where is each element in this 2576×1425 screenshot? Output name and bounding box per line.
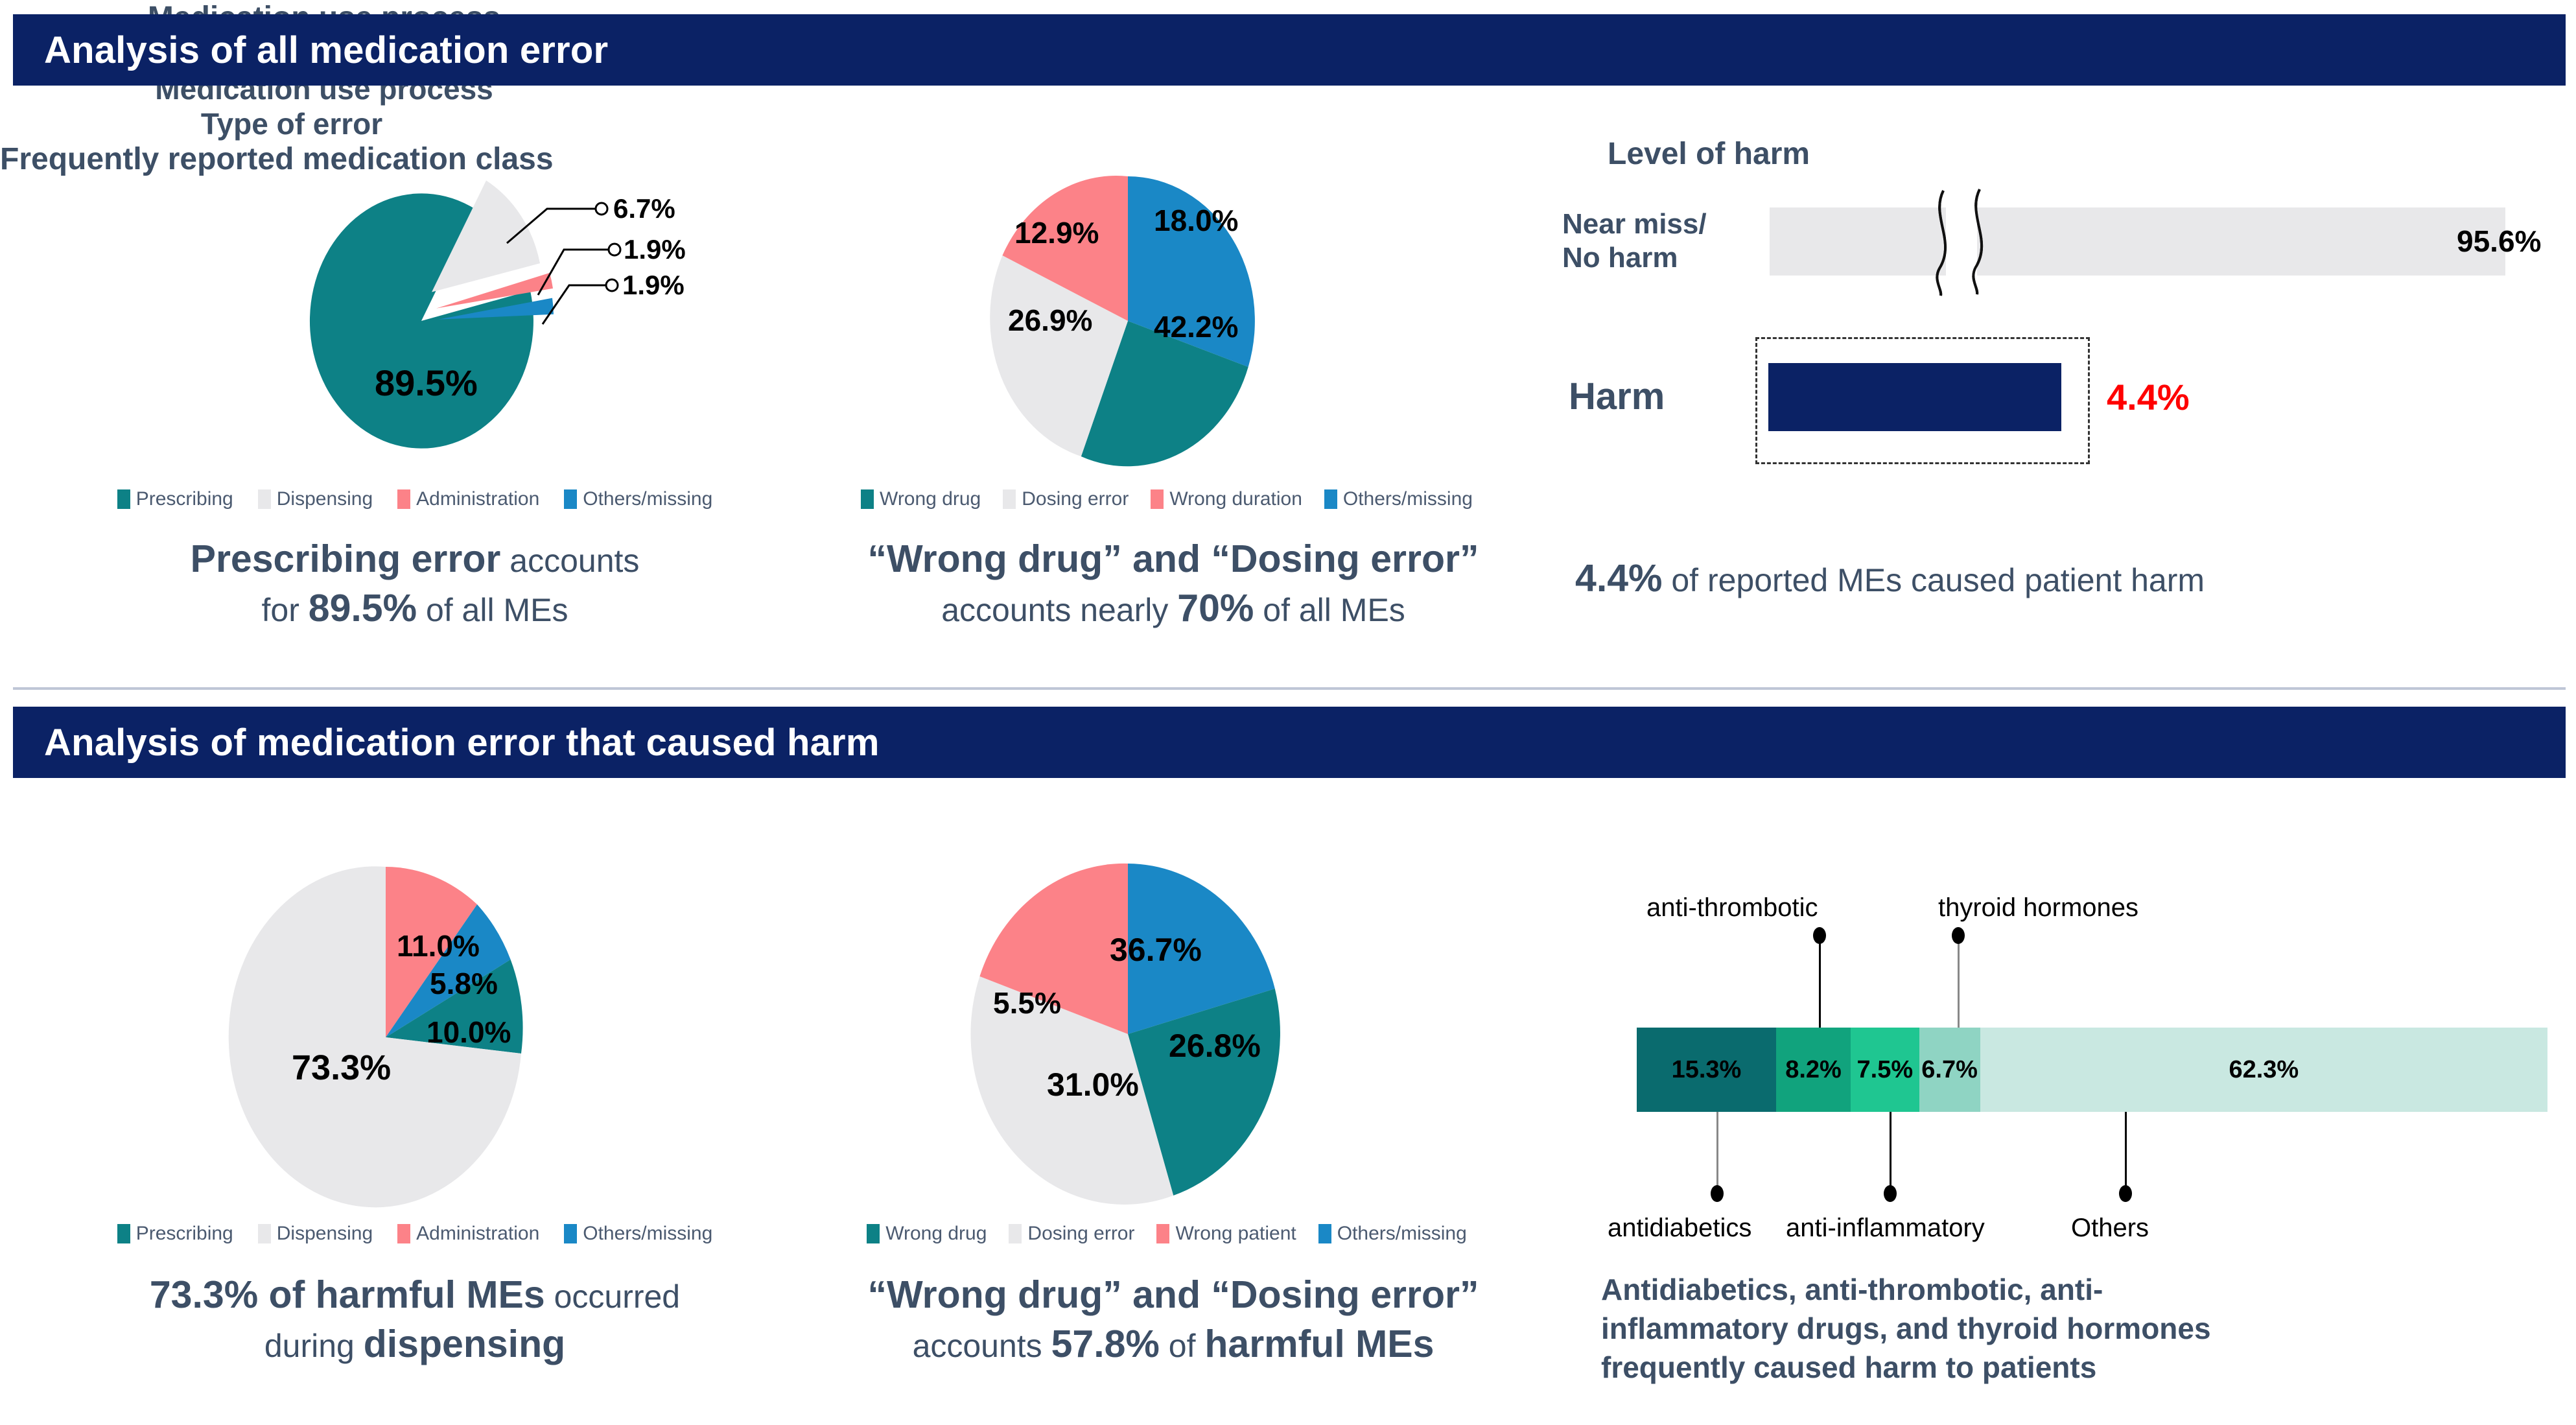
callout-label-thyroid-hormones: thyroid hormones: [1938, 893, 2138, 923]
caption-harm-process-l1-rest: occurred: [545, 1278, 680, 1315]
caption-all-process-l2-pre: for: [262, 592, 309, 628]
legend-item-dispensing: Dispensing: [258, 1223, 373, 1245]
callout-label-antidiabetics: antidiabetics: [1608, 1214, 1751, 1243]
callout-line-thyroid-hormones: [1958, 934, 1960, 1028]
legend-swatch-others-missing: [564, 1224, 577, 1243]
caption-all-type-l1: “Wrong drug” and “Dosing error”: [868, 537, 1479, 580]
caption-all-process-line1: Prescribing error accounts: [39, 535, 791, 584]
legend-label-others-missing: Others/missing: [583, 1223, 712, 1245]
caption-all-process-rest: [500, 543, 509, 579]
row-label-near-miss-l1: Near miss/: [1562, 207, 1707, 241]
legend-swatch-dosing-error: [1003, 489, 1016, 509]
caption-level-of-harm-rest: of reported MEs caused patient harm: [1662, 562, 2205, 598]
pie-chart-harm-process: 11.0% 5.8% 10.0% 73.3%: [220, 866, 583, 1209]
legend-swatch-wrong-drug: [867, 1224, 880, 1243]
legend-swatch-dispensing: [258, 1224, 271, 1243]
legend-label-prescribing: Prescribing: [136, 488, 233, 510]
legend-item-dispensing: Dispensing: [258, 488, 373, 510]
caption-all-type-l2-pre: accounts nearly: [941, 592, 1177, 628]
caption-med-class-line1: Antidiabetics, anti-thrombotic, anti-: [1601, 1271, 2560, 1310]
caption-harm-type-l2-strong2: harmful MEs: [1204, 1323, 1434, 1365]
infographic-root: Analysis of all medication error Medicat…: [0, 0, 2576, 1425]
caption-harm-type: “Wrong drug” and “Dosing error” accounts…: [797, 1271, 1549, 1369]
caption-level-of-harm-strong: 4.4%: [1575, 557, 1662, 600]
section-divider: [13, 687, 2566, 690]
legend-label-wrong-drug: Wrong drug: [880, 488, 981, 510]
pie-value-administration: 11.0%: [397, 929, 480, 963]
caption-harm-process-l2-strong: dispensing: [364, 1323, 565, 1365]
stack-value-anti-inflammatory: 7.5%: [1857, 1056, 1914, 1084]
legend-label-dispensing: Dispensing: [277, 1223, 373, 1245]
caption-level-of-harm: 4.4% of reported MEs caused patient harm: [1575, 554, 2547, 604]
legend-label-others-missing-type: Others/missing: [1343, 488, 1473, 510]
caption-all-process-l2-post: of all MEs: [417, 592, 568, 628]
pie-value-others-missing: 36.7%: [1110, 932, 1202, 968]
caption-all-type-l2-post: of all MEs: [1254, 592, 1405, 628]
legend-item-administration: Administration: [397, 488, 539, 510]
section-title-all: Analysis of all medication error: [13, 29, 608, 72]
callout-line-others: [2125, 1112, 2127, 1190]
row-label-near-miss-l2: No harm: [1562, 241, 1707, 275]
legend-item-wrong-duration: Wrong duration: [1151, 488, 1302, 510]
stack-value-anti-thrombotic: 8.2%: [1785, 1056, 1842, 1084]
caption-all-type-l2-strong: 70%: [1177, 587, 1254, 630]
callout-dot-anti-inflammatory: [1884, 1185, 1897, 1202]
legend-item-wrong-drug: Wrong drug: [867, 1223, 987, 1245]
caption-med-class-l2: inflammatory drugs, and thyroid hormones: [1601, 1312, 2211, 1345]
value-harm: 4.4%: [2107, 376, 2190, 418]
pie-value-dosing-error: 26.9%: [1008, 303, 1092, 337]
legend-label-wrong-duration: Wrong duration: [1169, 488, 1302, 510]
section-banner-all: Analysis of all medication error: [13, 14, 2566, 86]
legend-item-others-missing: Others/missing: [564, 488, 712, 510]
bar-near-miss-no-harm: [1770, 207, 2505, 276]
pie-value-others-missing: 18.0%: [1154, 204, 1238, 237]
legend-label-administration: Administration: [416, 488, 539, 510]
legend-item-prescribing: Prescribing: [117, 1223, 233, 1245]
stack-segment-anti-thrombotic: 8.2%: [1776, 1028, 1851, 1112]
pie-value-wrong-duration: 12.9%: [1014, 216, 1099, 250]
stack-value-others: 62.3%: [2229, 1056, 2299, 1084]
caption-harm-process-l1-mid: of harmful MEs: [258, 1273, 545, 1316]
legend-swatch-dosing-error: [1009, 1224, 1022, 1243]
caption-med-class-l3: frequently caused harm to patients: [1601, 1350, 2096, 1384]
legend-item-wrong-drug: Wrong drug: [861, 488, 981, 510]
panel-title-level-of-harm: Level of harm: [1608, 136, 1810, 172]
caption-harm-process-l2-pre: during: [264, 1328, 364, 1364]
caption-harm-process-line2: during dispensing: [26, 1320, 804, 1369]
caption-all-process-strong: Prescribing error: [191, 537, 501, 580]
stacked-bar-med-class: 15.3% 8.2% 7.5% 6.7% 62.3%: [1637, 1028, 2547, 1112]
pie-value-prescribing: 89.5%: [375, 362, 478, 403]
legend-swatch-administration: [397, 1224, 410, 1243]
legend-item-dosing-error: Dosing error: [1009, 1223, 1134, 1245]
legend-item-dosing-error: Dosing error: [1003, 488, 1129, 510]
stack-segment-anti-inflammatory: 7.5%: [1851, 1028, 1919, 1112]
legend-label-administration: Administration: [416, 1223, 539, 1245]
legend-all-type: Wrong drug Dosing error Wrong duration O…: [797, 483, 1536, 515]
pie-value-dispensing: 73.3%: [292, 1048, 391, 1087]
legend-harm-type: Wrong drug Dosing error Wrong patient Ot…: [797, 1218, 1536, 1250]
pie-value-wrong-patient: 5.5%: [993, 986, 1061, 1020]
stack-value-antidiabetics: 15.3%: [1672, 1056, 1742, 1084]
legend-label-wrong-patient: Wrong patient: [1175, 1223, 1296, 1245]
pie-value-others-missing: 5.8%: [430, 967, 498, 1000]
pie-chart-harm-type: 36.7% 26.8% 31.0% 5.5%: [933, 862, 1322, 1206]
caption-harm-type-line1: “Wrong drug” and “Dosing error”: [797, 1271, 1549, 1320]
value-near-miss-no-harm: 95.6%: [2457, 224, 2541, 259]
legend-swatch-prescribing: [117, 1224, 130, 1243]
legend-swatch-dispensing: [258, 489, 271, 509]
callout-line-antidiabetics: [1716, 1112, 1718, 1190]
pie-value-wrong-drug: 26.8%: [1169, 1028, 1261, 1064]
legend-item-others-missing-type: Others/missing: [1318, 1223, 1467, 1245]
section-banner-harm: Analysis of medication error that caused…: [13, 707, 2566, 778]
legend-label-wrong-drug: Wrong drug: [885, 1223, 987, 1245]
section-title-harm: Analysis of medication error that caused…: [13, 721, 880, 764]
legend-item-prescribing: Prescribing: [117, 488, 233, 510]
pie-chart-all-process: 89.5% 6.7% 1.9% 1.9%: [149, 162, 707, 467]
caption-all-process-rest-text: accounts: [509, 543, 639, 579]
caption-med-class-l1: Antidiabetics, anti-thrombotic, anti-: [1601, 1273, 2103, 1306]
pie-value-wrong-drug: 42.2%: [1154, 310, 1238, 344]
panel-title-harm-type: Type of error: [0, 106, 583, 141]
legend-swatch-administration: [397, 489, 410, 509]
caption-harm-process-l1-strong: 73.3%: [150, 1273, 258, 1316]
callout-label-anti-inflammatory: anti-inflammatory: [1786, 1214, 1985, 1243]
stack-segment-others: 62.3%: [1980, 1028, 2547, 1112]
callout-dot-anti-thrombotic: [1813, 927, 1826, 944]
legend-swatch-wrong-drug: [861, 489, 874, 509]
caption-harm-type-l2-mid: of: [1160, 1328, 1204, 1364]
stack-segment-thyroid-hormones: 6.7%: [1919, 1028, 1980, 1112]
caption-all-type: “Wrong drug” and “Dosing error” accounts…: [797, 535, 1549, 633]
stack-segment-antidiabetics: 15.3%: [1637, 1028, 1776, 1112]
caption-med-class-line2: inflammatory drugs, and thyroid hormones: [1601, 1310, 2560, 1348]
caption-all-type-line1: “Wrong drug” and “Dosing error”: [797, 535, 1549, 584]
pie-chart-all-type: 18.0% 42.2% 26.9% 12.9%: [946, 175, 1309, 467]
legend-item-wrong-patient: Wrong patient: [1156, 1223, 1296, 1245]
legend-label-prescribing: Prescribing: [136, 1223, 233, 1245]
leader-dot-others: [606, 279, 618, 291]
bar-harm: [1768, 363, 2061, 431]
pie-value-prescribing: 10.0%: [427, 1015, 511, 1049]
legend-item-others-missing: Others/missing: [564, 1223, 712, 1245]
callout-label-anti-thrombotic: anti-thrombotic: [1646, 893, 1818, 923]
row-label-harm: Harm: [1569, 375, 1665, 419]
leader-label-others: 1.9%: [622, 270, 685, 300]
caption-med-class-line3: frequently caused harm to patients: [1601, 1348, 2560, 1387]
caption-all-process: Prescribing error accounts for 89.5% of …: [39, 535, 791, 633]
legend-label-dispensing: Dispensing: [277, 488, 373, 510]
legend-swatch-others-missing-type: [1324, 489, 1337, 509]
callout-dot-others: [2119, 1185, 2132, 1202]
caption-med-class: Antidiabetics, anti-thrombotic, anti- in…: [1601, 1271, 2560, 1387]
leader-label-administration: 1.9%: [624, 234, 686, 265]
legend-swatch-others-missing: [564, 489, 577, 509]
callout-dot-antidiabetics: [1711, 1185, 1724, 1202]
caption-harm-process: 73.3% of harmful MEs occurred during dis…: [26, 1271, 804, 1369]
legend-item-administration: Administration: [397, 1223, 539, 1245]
caption-harm-type-l2-pre: accounts: [913, 1328, 1051, 1364]
callout-line-anti-thrombotic: [1819, 934, 1821, 1028]
caption-all-process-line2: for 89.5% of all MEs: [39, 584, 791, 633]
legend-all-process: Prescribing Dispensing Administration Ot…: [52, 483, 778, 515]
callout-label-others: Others: [2071, 1214, 2149, 1243]
legend-swatch-wrong-patient: [1156, 1224, 1169, 1243]
legend-label-others-missing: Others/missing: [583, 488, 712, 510]
axis-break-icon: [1925, 188, 2009, 298]
caption-harm-process-line1: 73.3% of harmful MEs occurred: [26, 1271, 804, 1320]
leader-dot-administration: [609, 244, 620, 255]
caption-harm-type-line2: accounts 57.8% of harmful MEs: [797, 1320, 1549, 1369]
legend-swatch-wrong-duration: [1151, 489, 1164, 509]
legend-harm-process: Prescribing Dispensing Administration Ot…: [52, 1218, 778, 1250]
legend-swatch-prescribing: [117, 489, 130, 509]
legend-swatch-others-missing-type: [1318, 1224, 1331, 1243]
leader-label-dispensing: 6.7%: [613, 193, 675, 224]
legend-label-others-missing-type: Others/missing: [1337, 1223, 1467, 1245]
caption-all-type-line2: accounts nearly 70% of all MEs: [797, 584, 1549, 633]
legend-item-others-missing-type: Others/missing: [1324, 488, 1473, 510]
callout-dot-thyroid-hormones: [1952, 927, 1965, 944]
stack-value-thyroid-hormones: 6.7%: [1921, 1056, 1978, 1084]
row-label-near-miss: Near miss/ No harm: [1562, 207, 1707, 275]
caption-all-process-l2-strong: 89.5%: [309, 587, 417, 630]
caption-harm-type-l2-strong: 57.8%: [1051, 1323, 1160, 1365]
legend-label-dosing-error: Dosing error: [1022, 488, 1129, 510]
pie-value-dosing-error: 31.0%: [1047, 1066, 1139, 1103]
callout-line-anti-inflammatory: [1890, 1112, 1891, 1190]
caption-harm-type-l1: “Wrong drug” and “Dosing error”: [868, 1273, 1479, 1316]
leader-dot-dispensing: [596, 203, 607, 215]
legend-label-dosing-error: Dosing error: [1027, 1223, 1134, 1245]
